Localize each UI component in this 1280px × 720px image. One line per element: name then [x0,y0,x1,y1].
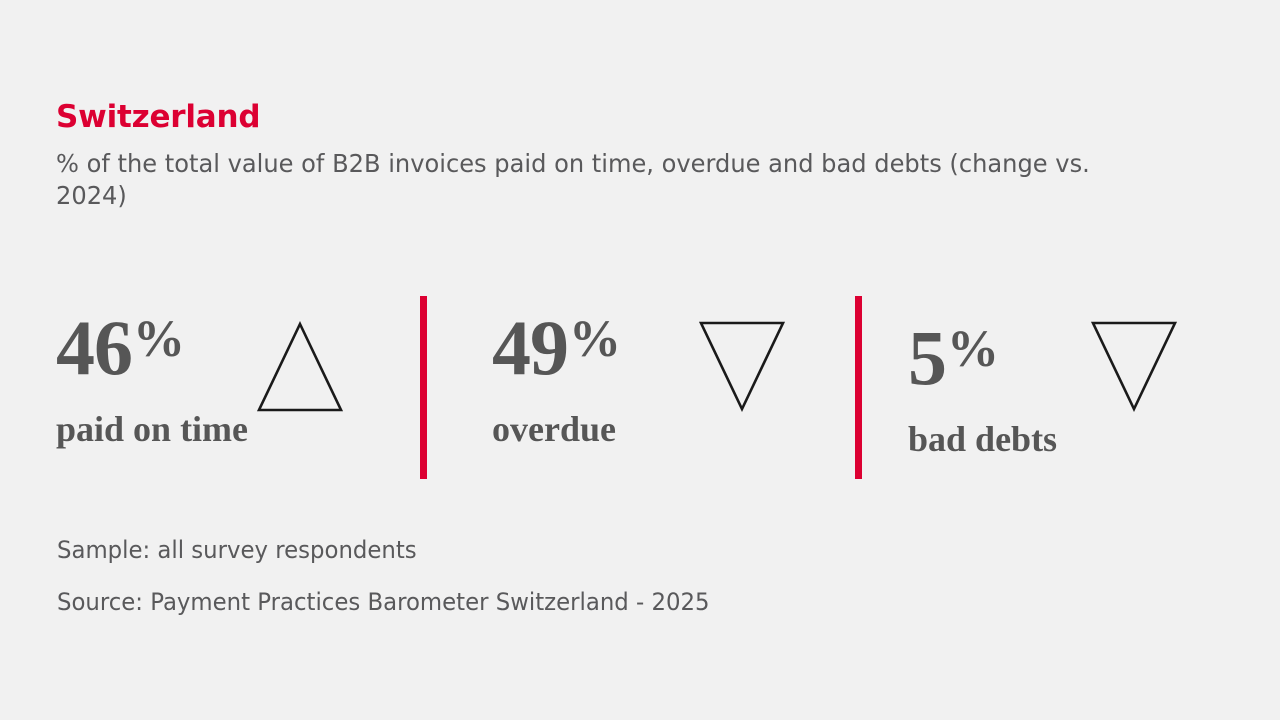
stat-value: 5 [908,322,946,394]
percent-symbol: % [569,314,621,366]
stats-row: 46 % paid on time 49 % overdue [0,288,1280,488]
sample-note: Sample: all survey respondents [57,538,710,562]
stat-value-row: 49 % [492,312,621,384]
stat-block-overdue: 49 % overdue [492,288,792,488]
stat-label: overdue [492,408,616,450]
stat-value: 49 [492,312,568,384]
source-note: Source: Payment Practices Barometer Swit… [57,590,710,614]
stat-block-bad-debts: 5 % bad debts [908,288,1198,488]
stat-value-row: 46 % [56,312,185,384]
triangle-down-icon [698,320,786,412]
section-divider-1 [420,296,427,479]
stat-value-row: 5 % [908,322,999,394]
stat-block-paid-on-time: 46 % paid on time [56,288,406,488]
footer: Sample: all survey respondents Source: P… [57,538,710,614]
stat-label: bad debts [908,418,1057,460]
stat-label: paid on time [56,408,248,450]
infographic-canvas: Switzerland % of the total value of B2B … [0,0,1280,720]
page-subtitle: % of the total value of B2B invoices pai… [56,148,1146,212]
page-title: Switzerland [56,100,1216,134]
section-divider-2 [855,296,862,479]
stat-value: 46 [56,312,132,384]
percent-symbol: % [133,314,185,366]
triangle-down-icon [1090,320,1178,412]
header: Switzerland % of the total value of B2B … [56,100,1216,212]
triangle-up-icon [256,321,344,413]
percent-symbol: % [947,324,999,376]
